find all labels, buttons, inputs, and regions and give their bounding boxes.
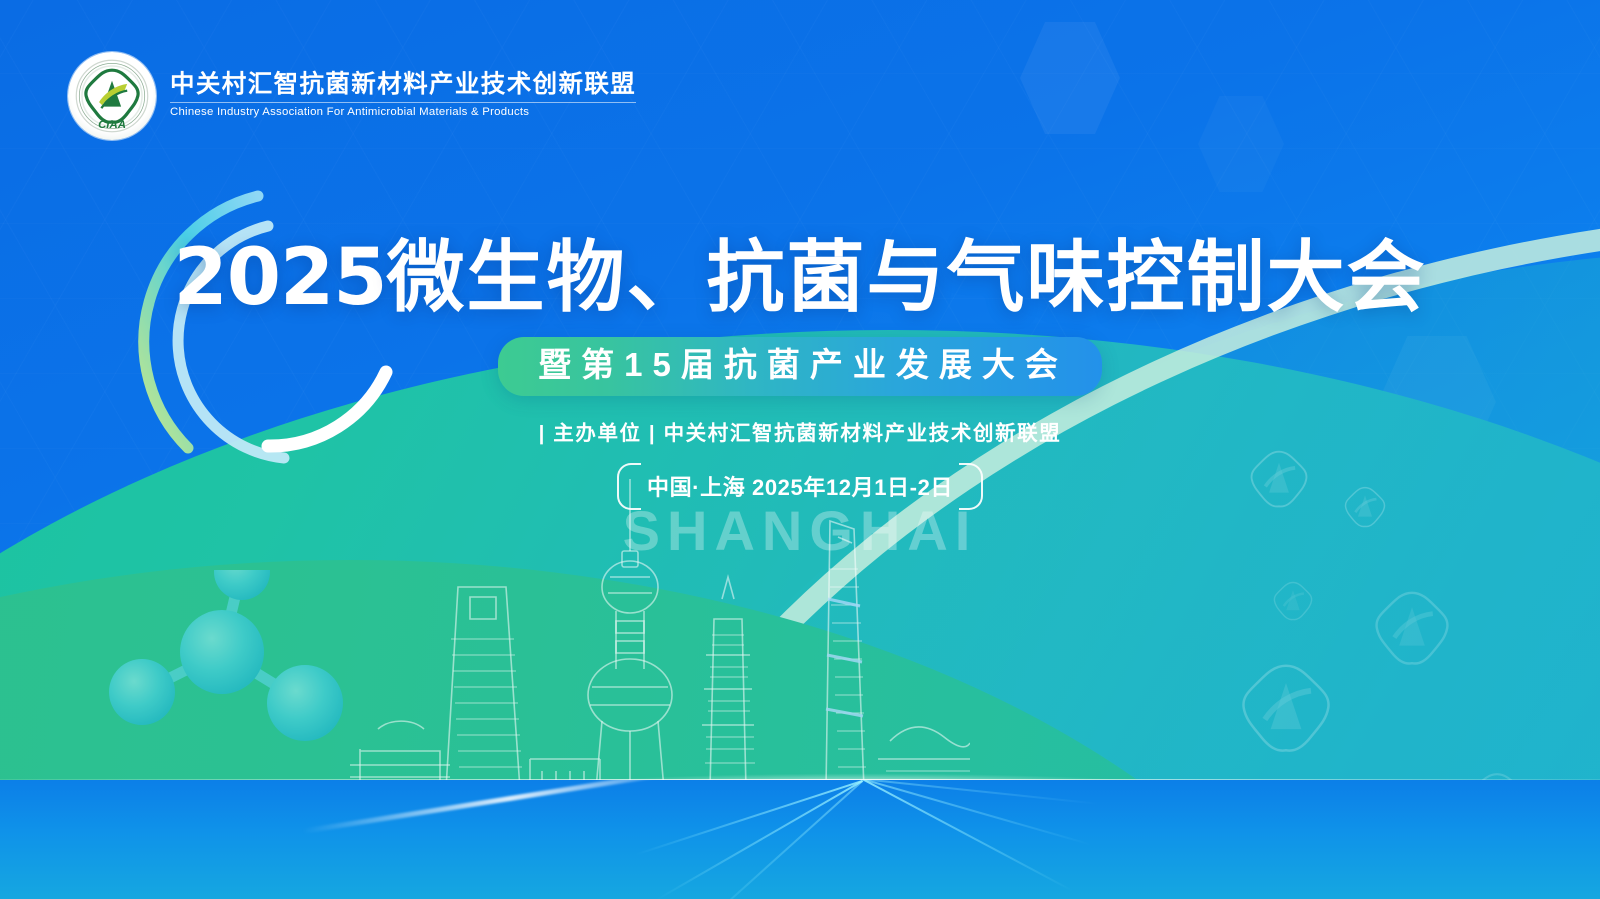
association-name-en: Chinese Industry Association For Antimic… [170,106,636,120]
ciaa-seal-logo: CIAA [68,52,156,140]
ground-plane [0,780,1600,899]
main-title: 2025微生物、抗菌与气味控制大会 [173,238,1426,317]
svg-text:CIAA: CIAA [98,119,126,131]
association-logo-block: CIAA 中关村汇智抗菌新材料产业技术创新联盟 Chinese Industry… [68,52,636,140]
star-emblem-icon: CIAA [74,58,150,134]
hero-content: 2025微生物、抗菌与气味控制大会 暨第15届抗菌产业发展大会 | 主办单位 |… [0,238,1600,510]
association-name-cn: 中关村汇智抗菌新材料产业技术创新联盟 [170,72,636,99]
subtitle-pill: 暨第15届抗菌产业发展大会 [498,337,1102,396]
title-year: 2025 [173,233,386,323]
association-name-block: 中关村汇智抗菌新材料产业技术创新联盟 Chinese Industry Asso… [170,72,636,120]
title-text-cn: 微生物、抗菌与气味控制大会 [387,233,1427,321]
host-organizer-line: | 主办单位 | 中关村汇智抗菌新材料产业技术创新联盟 [0,416,1600,446]
logo-divider [170,102,636,103]
banner-canvas: CIAA 中关村汇智抗菌新材料产业技术创新联盟 Chinese Industry… [0,0,1600,899]
subtitle-text: 暨第15届抗菌产业发展大会 [532,346,1068,383]
date-location-text: 中国·上海 2025年12月1日-2日 [647,470,953,502]
city-watermark: SHANGHAI [0,503,1600,559]
